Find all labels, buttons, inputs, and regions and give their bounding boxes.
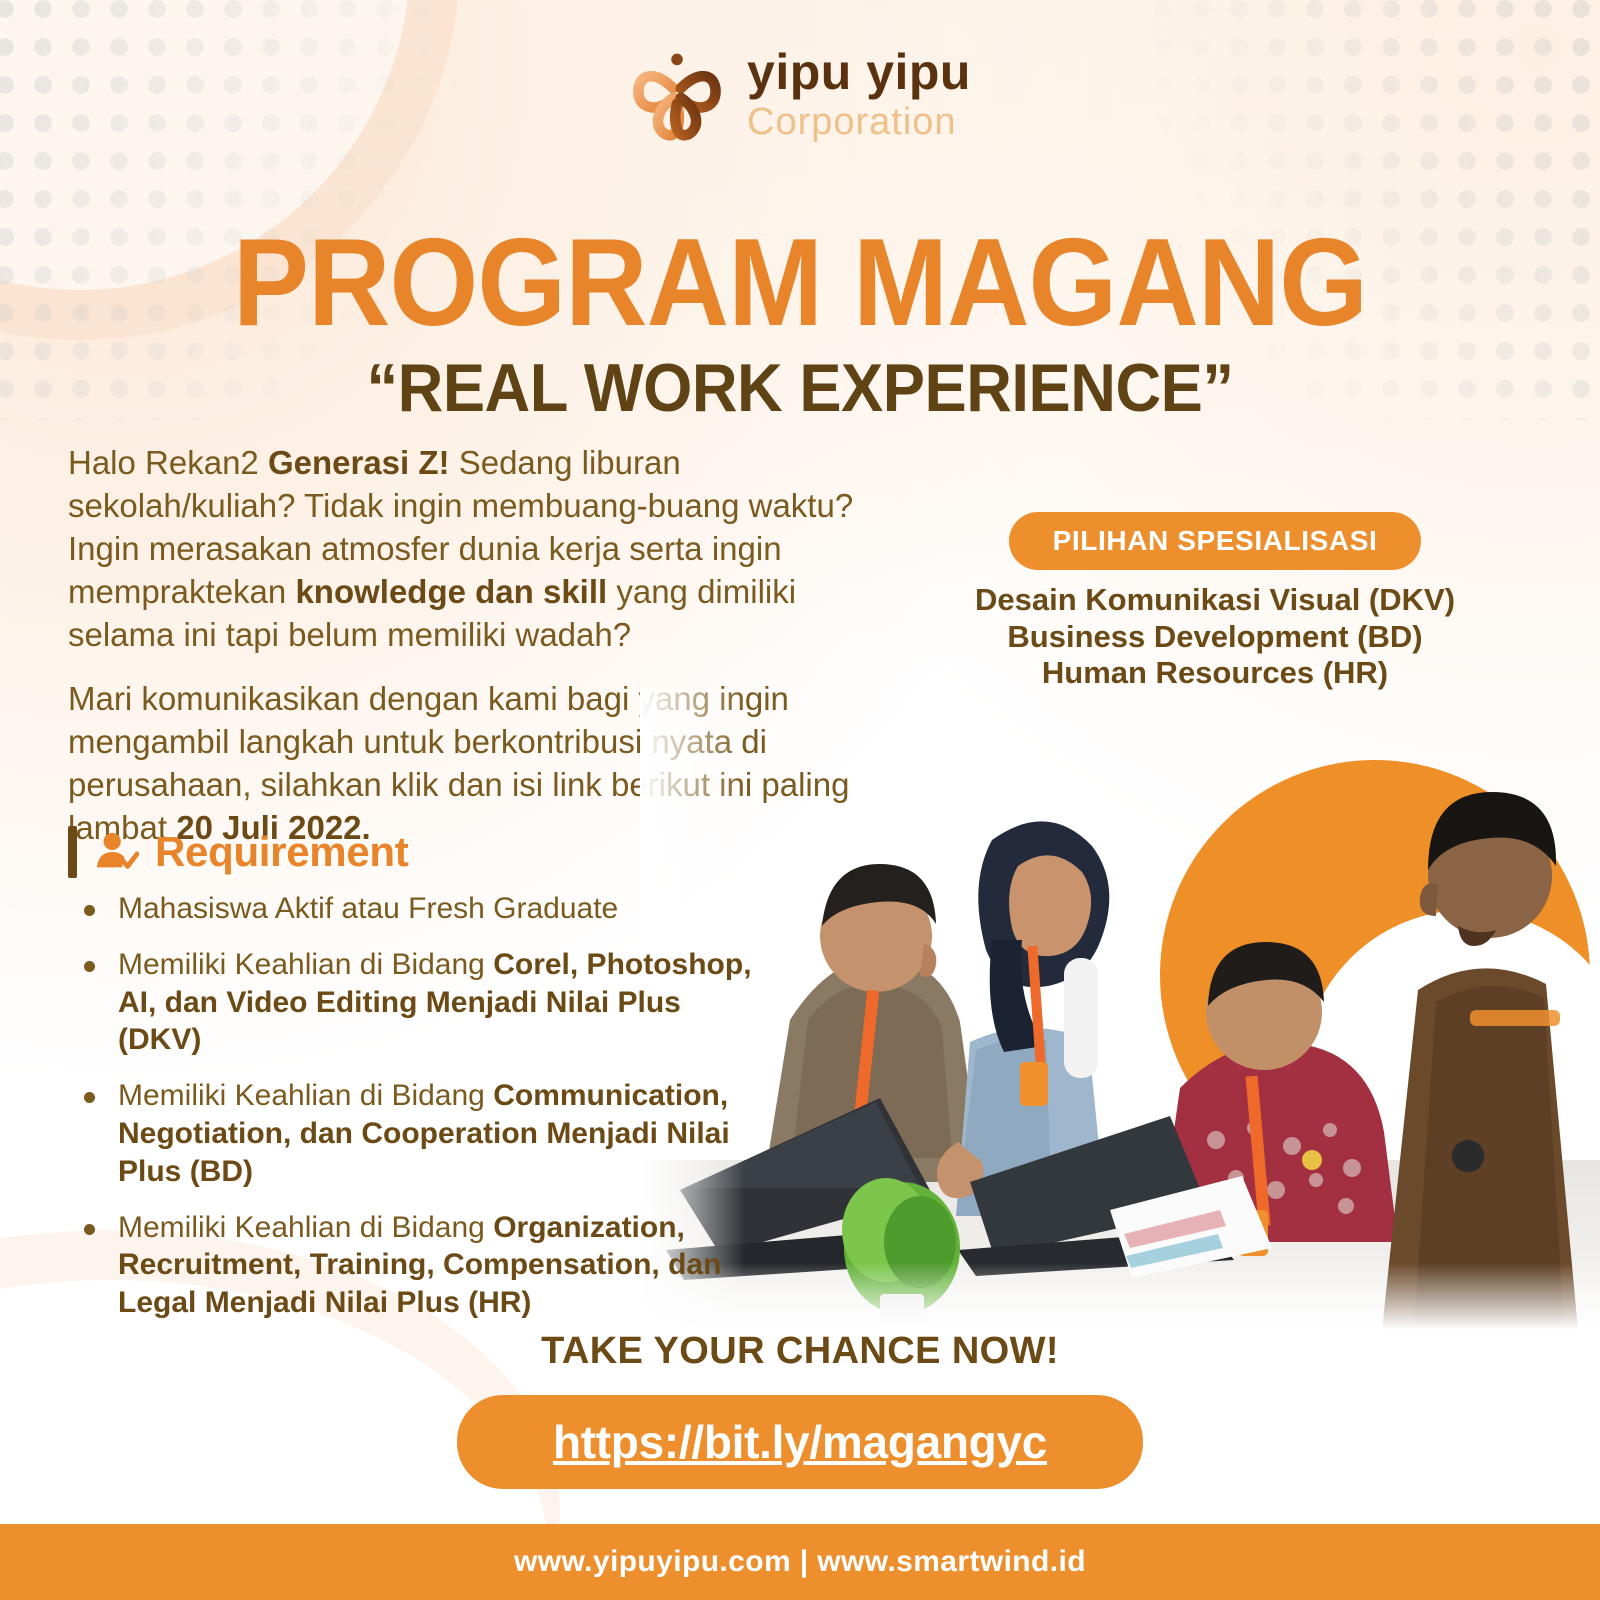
list-item: Memiliki Keahlian di Bidang Corel, Photo…: [70, 946, 770, 1059]
cta-kicker: TAKE YOUR CHANCE NOW!: [0, 1330, 1600, 1373]
list-item: Mahasiswa Aktif atau Fresh Graduate: [70, 890, 770, 928]
call-to-action: TAKE YOUR CHANCE NOW! https://bit.ly/mag…: [0, 1330, 1600, 1489]
specialization-badge: PILIHAN SPESIALISASI: [1009, 512, 1422, 570]
brand-logo: yipu yipu Corporation: [0, 44, 1600, 144]
requirement-title: Requirement: [155, 828, 408, 876]
headline-block: PROGRAM MAGANG “REAL WORK EXPERIENCE”: [0, 226, 1600, 422]
specialization-options: Desain Komunikasi Visual (DKV) Business …: [905, 582, 1525, 692]
apply-link-button[interactable]: https://bit.ly/magangyc: [457, 1395, 1143, 1489]
intro-paragraph-1: Halo Rekan2 Generasi Z! Sedang liburan s…: [68, 442, 878, 656]
page-subtitle: “REAL WORK EXPERIENCE”: [56, 354, 1544, 422]
page-title: PROGRAM MAGANG: [64, 226, 1536, 340]
requirement-heading: Requirement: [68, 826, 408, 878]
specialization-option: Business Development (BD): [905, 619, 1525, 656]
specialization-option: Human Resources (HR): [905, 655, 1525, 692]
brand-name: yipu yipu: [747, 47, 971, 97]
specialization-option: Desain Komunikasi Visual (DKV): [905, 582, 1525, 619]
list-item: Memiliki Keahlian di Bidang Communicatio…: [70, 1077, 770, 1190]
specialization-block: PILIHAN SPESIALISASI Desain Komunikasi V…: [905, 512, 1525, 692]
person-check-icon: [93, 829, 139, 875]
footer-bar: www.yipuyipu.com | www.smartwind.id: [0, 1524, 1600, 1600]
footer-websites: www.yipuyipu.com | www.smartwind.id: [514, 1545, 1086, 1579]
brand-subtitle: Corporation: [747, 103, 971, 141]
butterfly-logo-icon: [629, 44, 725, 144]
list-item: Memiliki Keahlian di Bidang Organization…: [70, 1209, 770, 1322]
accent-bar: [68, 826, 77, 878]
poster-canvas: yipu yipu Corporation PROGRAM MAGANG “RE…: [0, 0, 1600, 1600]
team-discussion-photo: [640, 690, 1600, 1330]
requirement-list: Mahasiswa Aktif atau Fresh Graduate Memi…: [70, 890, 770, 1340]
